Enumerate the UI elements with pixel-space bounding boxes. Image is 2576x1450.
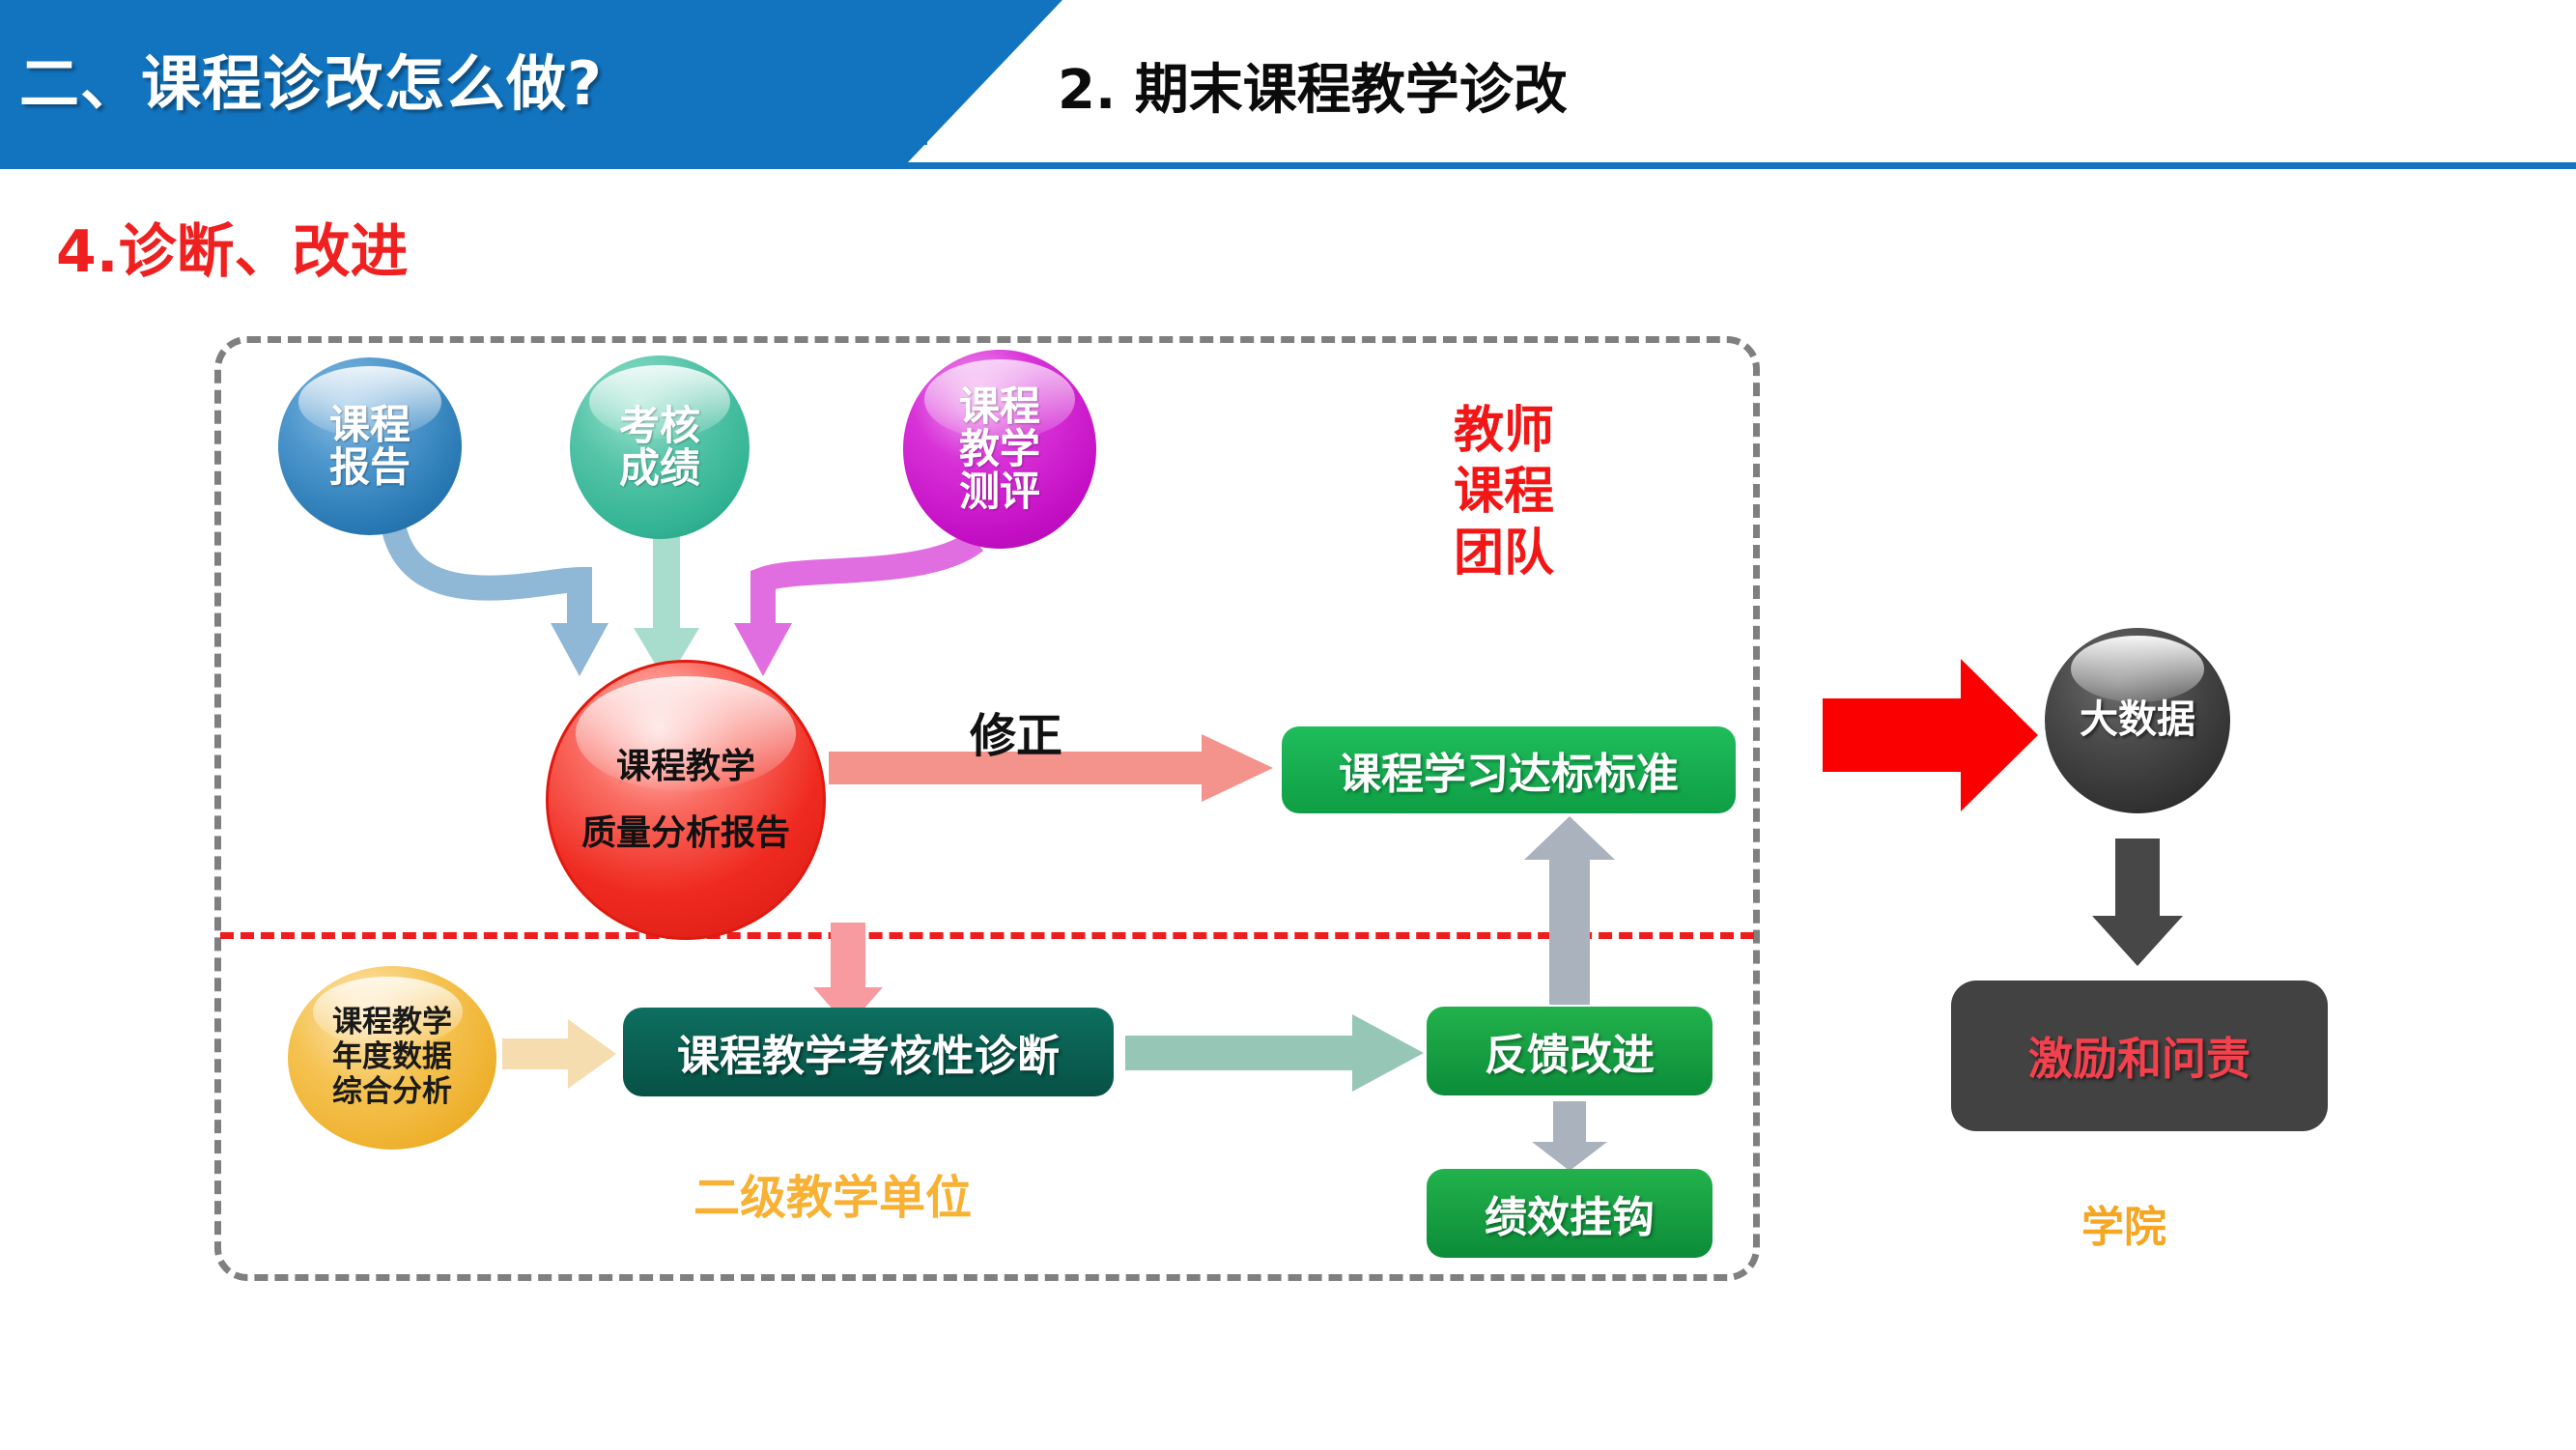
ellipse-annual-data[interactable]: 课程教学 年度数据 综合分析 <box>288 966 496 1150</box>
slide-header: 二、课程诊改怎么做? 2. 期末课程教学诊改 <box>0 0 2576 166</box>
label-teaching-unit: 二级教学单位 <box>694 1159 972 1227</box>
sphere-label-line-2: 成绩 <box>619 447 700 490</box>
header-right-title: 2. 期末课程教学诊改 <box>1058 46 1568 125</box>
sphere-quality-report[interactable]: 课程教学 质量分析报告 <box>546 660 826 940</box>
sphere-big-data[interactable]: 大数据 <box>2045 628 2230 813</box>
label-fix-arrow: 修正 <box>970 697 1062 765</box>
sphere-teaching-eval[interactable]: 课程 教学 测评 <box>903 350 1096 549</box>
sphere-exam-score[interactable]: 考核 成绩 <box>570 355 750 539</box>
box-feedback-improve[interactable]: 反馈改进 <box>1427 1007 1713 1095</box>
red-dashed-divider <box>220 932 1754 939</box>
annual-label-line-3: 综合分析 <box>332 1075 452 1110</box>
teacher-team-line-2: 课程 <box>1454 462 1554 523</box>
section-title: 4.诊断、改进 <box>56 205 409 289</box>
quality-label-line-1: 课程教学 <box>616 749 755 784</box>
slide-root: 二、课程诊改怎么做? 2. 期末课程教学诊改 4.诊断、改进 <box>0 0 2576 1450</box>
big-data-label: 大数据 <box>2080 700 2195 741</box>
label-teacher-team: 教师 课程 团队 <box>1454 401 1554 584</box>
box-course-standard[interactable]: 课程学习达标标准 <box>1282 726 1736 813</box>
sphere-label-line-2: 教学 <box>959 428 1040 470</box>
sphere-label-line-1: 课程 <box>959 385 1040 428</box>
box-incentive-accountability[interactable]: 激励和问责 <box>1951 981 2328 1131</box>
box-assessment-diagnosis[interactable]: 课程教学考核性诊断 <box>623 1008 1114 1096</box>
sphere-label-line-3: 测评 <box>959 470 1040 513</box>
sphere-label-line-1: 课程 <box>329 404 410 446</box>
sphere-label-line-1: 考核 <box>619 405 700 447</box>
annual-label-line-1: 课程教学 <box>332 1006 452 1040</box>
header-left-title: 二、课程诊改怎么做? <box>19 35 869 112</box>
box-performance-link[interactable]: 绩效挂钩 <box>1427 1169 1713 1258</box>
annual-label-line-2: 年度数据 <box>332 1040 452 1075</box>
sphere-course-report[interactable]: 课程 报告 <box>278 357 462 535</box>
header-underline <box>0 162 2576 169</box>
sphere-label-line-2: 报告 <box>329 446 410 489</box>
label-college: 学院 <box>2081 1192 2166 1254</box>
teacher-team-line-1: 教师 <box>1454 401 1554 462</box>
teacher-team-line-3: 团队 <box>1454 524 1554 584</box>
quality-label-line-2: 质量分析报告 <box>581 815 790 851</box>
sphere-gloss <box>2071 636 2204 702</box>
